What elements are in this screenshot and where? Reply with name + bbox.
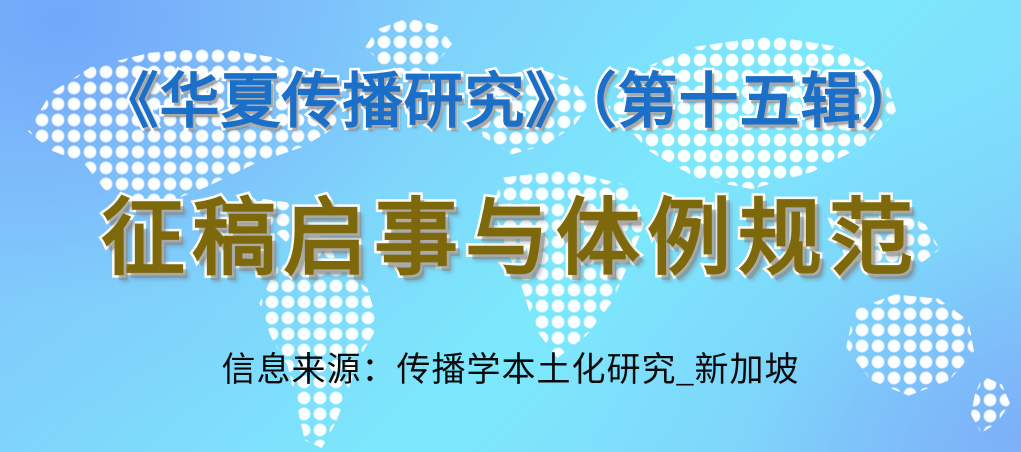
- banner-source-line: 信息来源：传播学本土化研究_新加坡: [0, 352, 1021, 389]
- banner-title: 《华夏传播研究》（第十五辑）: [0, 72, 1021, 132]
- banner-subtitle: 征稿启事与体例规范: [0, 196, 1021, 280]
- promo-banner: 《华夏传播研究》（第十五辑） 征稿启事与体例规范 信息来源：传播学本土化研究_新…: [0, 0, 1021, 452]
- banner-content: 《华夏传播研究》（第十五辑） 征稿启事与体例规范 信息来源：传播学本土化研究_新…: [0, 0, 1021, 452]
